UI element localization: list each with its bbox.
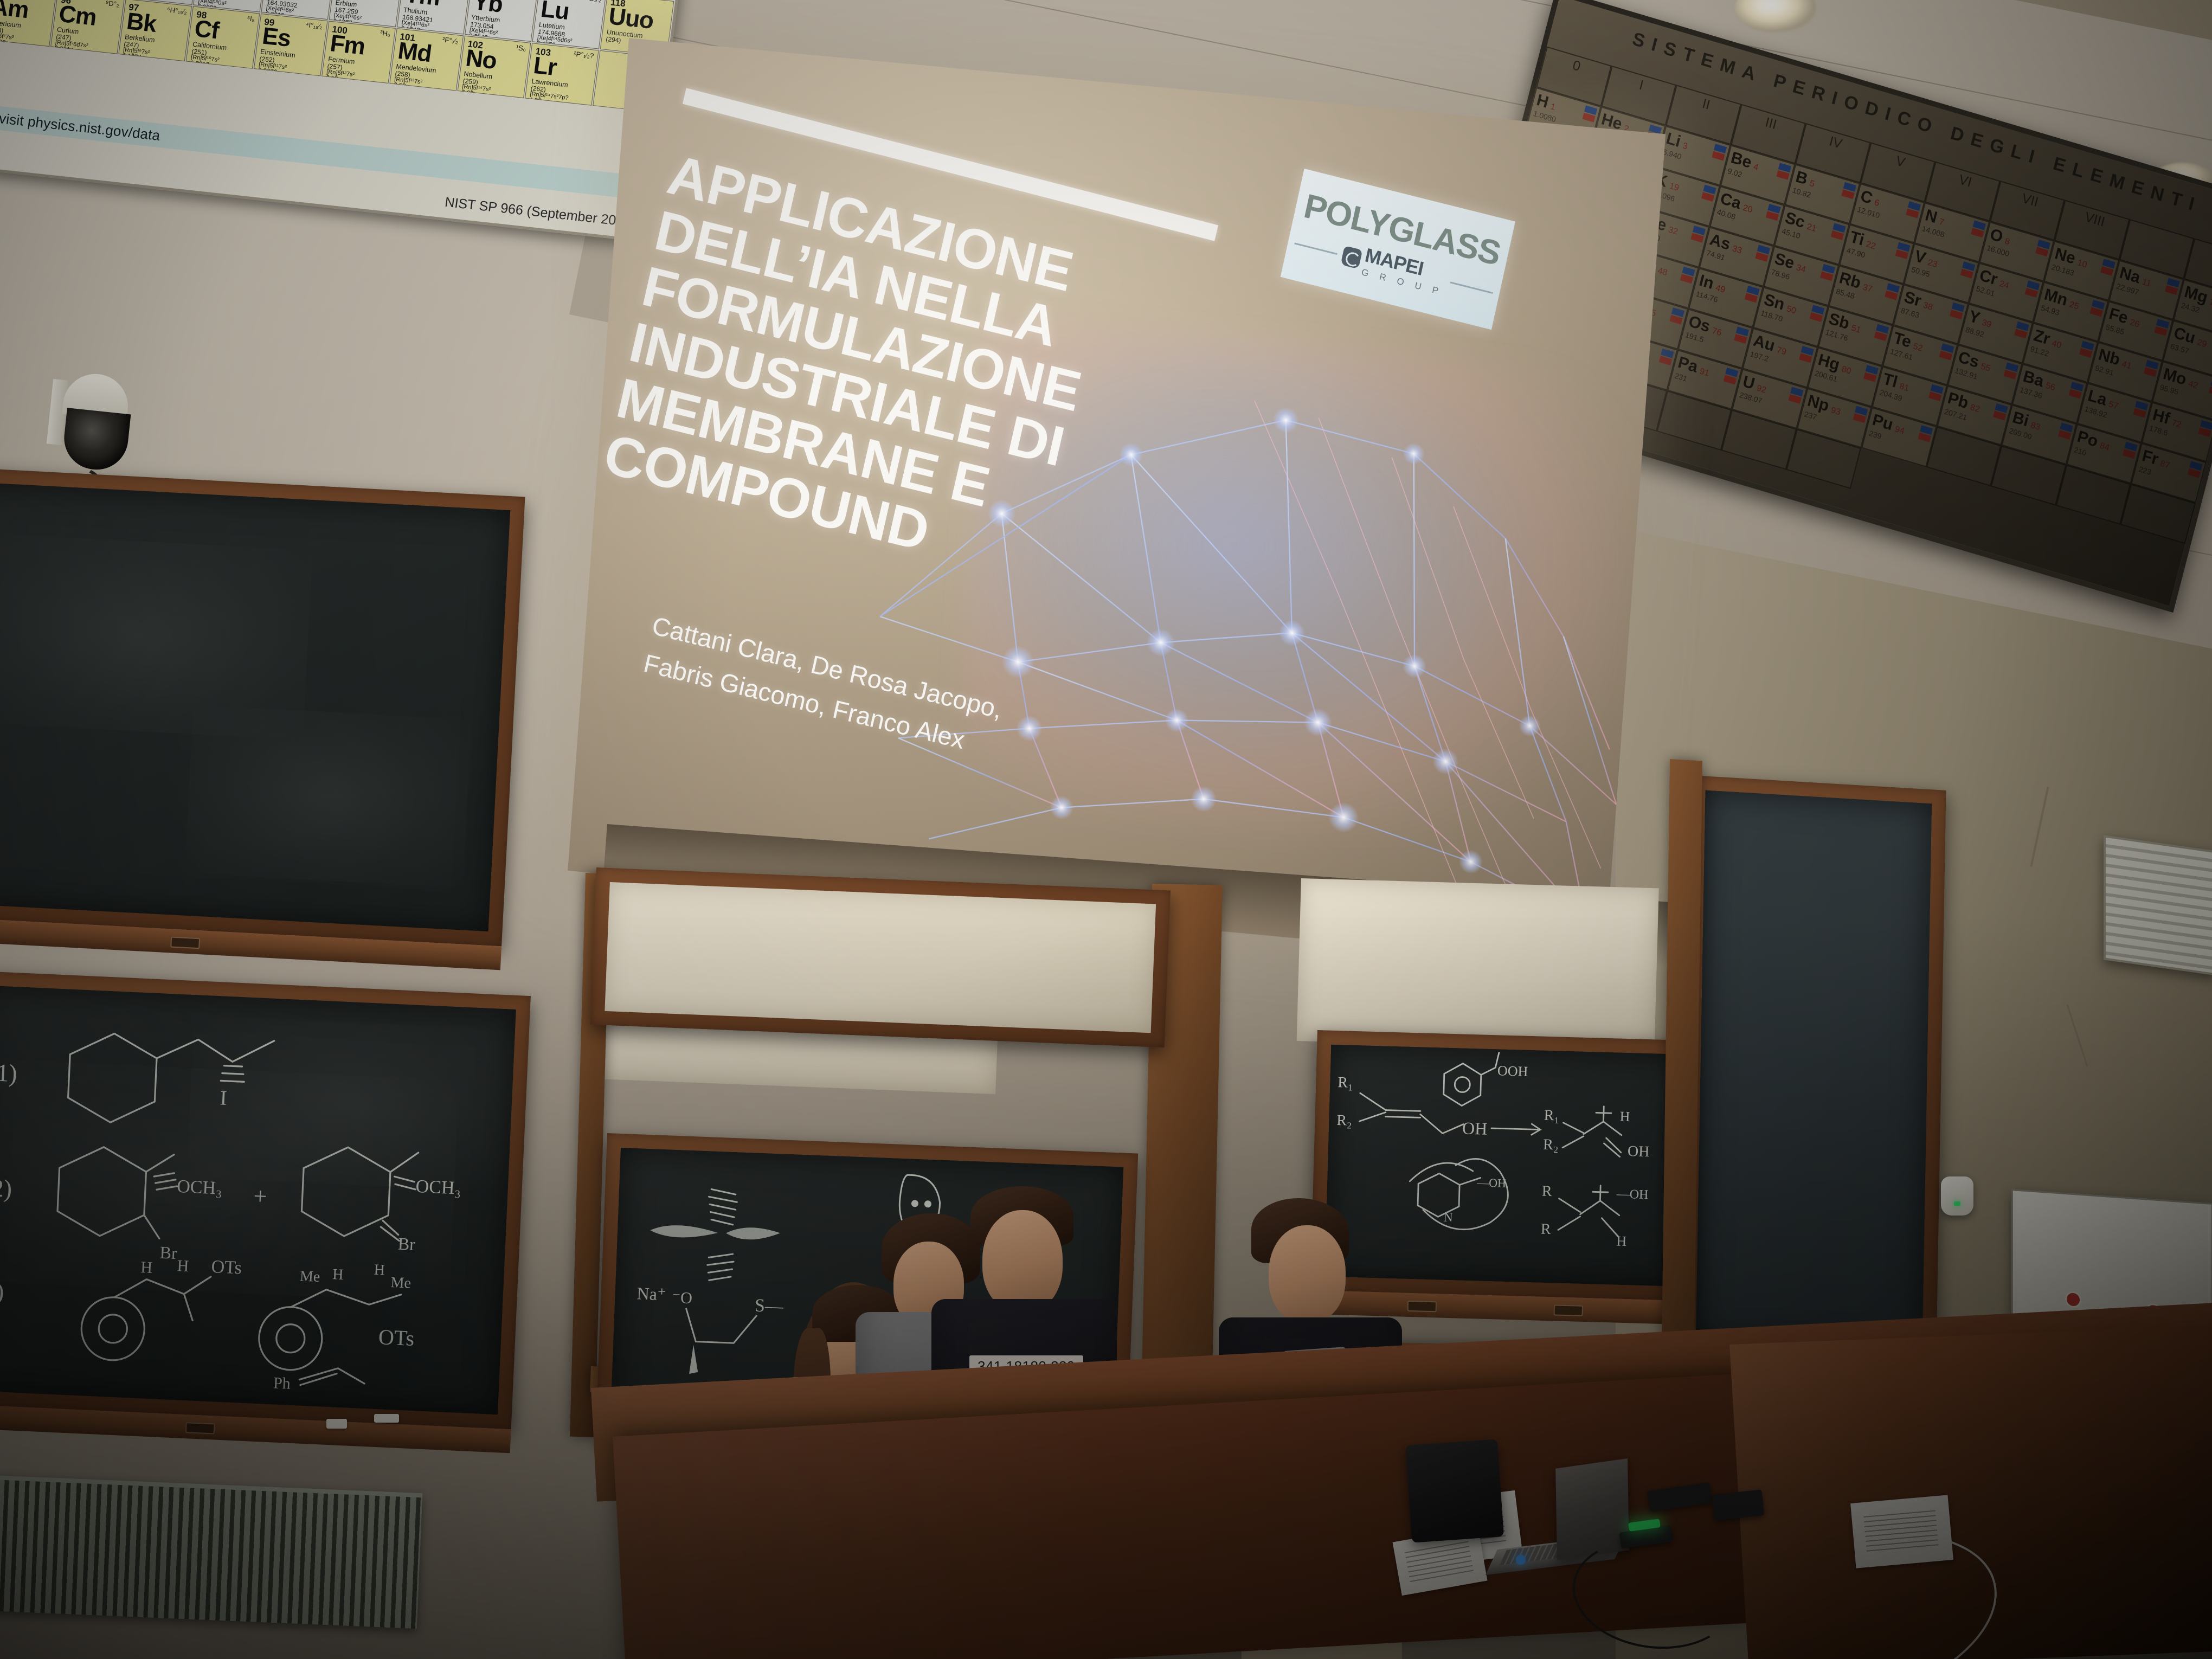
vintage-element-number: 51 [1850, 323, 1862, 335]
vintage-element-symbol: O [1988, 226, 2005, 247]
element-term: ²F°₇⁄₂ [442, 36, 459, 44]
vintage-element-number: 42 [2187, 379, 2198, 391]
vintage-element-number: 7 [1938, 217, 1945, 228]
svg-text:2): 2) [0, 1174, 12, 1203]
mapei-mark-icon [1340, 246, 1362, 269]
vintage-element-number: 10 [2076, 258, 2088, 270]
laptop-bag[interactable] [1405, 1439, 1504, 1542]
sensor-led-indicator [1954, 1201, 1960, 1206]
svg-text:OH: OH [1628, 1143, 1650, 1160]
motion-sensor [1941, 1176, 1973, 1216]
vintage-element-number: 23 [1927, 258, 1938, 270]
chalk-piece[interactable] [374, 1414, 399, 1423]
svg-text:R₁: R₁ [1338, 1074, 1353, 1091]
svg-text:R₁: R₁ [1544, 1107, 1559, 1124]
vintage-element-symbol: V [1913, 247, 1927, 268]
vintage-element-number: 11 [2141, 278, 2152, 289]
vintage-element-number: 83 [2030, 421, 2041, 433]
vintage-element-number: 38 [1922, 300, 1933, 312]
element-term: ⁹D°₂ [105, 0, 120, 8]
svg-text:—OH: —OH [1616, 1187, 1648, 1203]
vintage-element-number: 56 [2044, 381, 2056, 393]
svg-text:H: H [140, 1258, 153, 1277]
svg-text:3): 3) [0, 1277, 5, 1306]
svg-text:OCH₃: OCH₃ [415, 1176, 461, 1199]
vintage-element-number: 5 [1809, 179, 1816, 189]
logo-rule-left [1294, 242, 1337, 255]
vintage-element-number: 40 [2051, 339, 2062, 351]
vintage-element-symbol: Ti [1848, 228, 1866, 249]
vintage-element-mass: 24.32 [2180, 301, 2212, 326]
vintage-element-number: 29 [2196, 338, 2208, 350]
vintage-element-mass: 95.95 [2159, 383, 2212, 408]
epoxidation-scheme-chalk-drawing: R₁ R₂ OH OOH R₁ R₂ [1324, 1045, 1699, 1287]
vintage-element-number: 91 [1699, 366, 1710, 378]
vintage-element-number: 3 [1682, 141, 1689, 151]
blackboard-right[interactable]: R₁ R₂ OH OOH R₁ R₂ [1310, 1030, 1713, 1301]
element-term: ³H₆ [380, 29, 391, 37]
organic-chemistry-chalk-drawing: 1) I 2) OCH₃ Br + [0, 985, 516, 1414]
vintage-element-number: 41 [2121, 359, 2132, 371]
vintage-element-symbol: N [1924, 206, 1939, 227]
chalk-piece[interactable] [326, 1419, 347, 1429]
vintage-element-symbol: Y [1967, 307, 1982, 328]
svg-text:H: H [374, 1262, 385, 1279]
vintage-element-symbol: U [1741, 372, 1757, 393]
svg-text:H: H [177, 1257, 189, 1275]
vintage-element-number: 33 [1731, 244, 1742, 256]
svg-text:OH: OH [1462, 1118, 1488, 1139]
logo-rule-right [1450, 281, 1493, 294]
svg-text:Br: Br [397, 1234, 416, 1254]
cabinet-sticker [2065, 1291, 2081, 1308]
vintage-element-number: 8 [2004, 236, 2011, 247]
vintage-element-number: 24 [1998, 279, 2010, 291]
vintage-element-number: 19 [1668, 182, 1680, 194]
svg-text:Me: Me [299, 1268, 320, 1285]
element-term: ⁵I₈ [247, 15, 255, 23]
blackboard-clip [1553, 1304, 1583, 1316]
svg-text:R₂: R₂ [1336, 1112, 1352, 1129]
periodic-element-cell: 71²D₃⁄₂LuLutetium174.9668[Xe]4f¹⁴5d6s²5.… [532, 0, 606, 49]
vintage-element-number: 84 [2099, 441, 2110, 453]
svg-text:H: H [1616, 1233, 1627, 1250]
periodic-element-cell: 97⁶H°₁₅⁄₂BkBerkelium(247)[Rn]5f⁹7s²6.197… [118, 0, 192, 61]
svg-text:I: I [220, 1086, 228, 1110]
vintage-element-number: 39 [1981, 318, 1992, 330]
projected-slide: APPLICAZIONE DELL’IA NELLA FORMULAZIONE … [568, 38, 1666, 967]
element-term: ²P°₁⁄₂? [574, 50, 595, 60]
vintage-element-number: 52 [1912, 342, 1924, 353]
vintage-element-number: 37 [1862, 282, 1873, 294]
vintage-element-number: 79 [1776, 345, 1787, 357]
svg-text:+: + [253, 1182, 268, 1210]
blackboard-far-right[interactable] [1681, 775, 1946, 1371]
svg-text:OTs: OTs [211, 1257, 242, 1278]
avatar-face [982, 1210, 1063, 1312]
vintage-element-symbol: H [1535, 91, 1551, 112]
vintage-element-number: 34 [1795, 263, 1806, 275]
vintage-element-number: 72 [2171, 419, 2182, 430]
vintage-element-number: 57 [2107, 400, 2119, 411]
vintage-element-number: 6 [1873, 198, 1880, 208]
laptop-power-led [1516, 1555, 1526, 1565]
blackboard-left-upper[interactable] [0, 466, 525, 946]
periodic-element-cell: 96⁹D°₂CmCurium(247)[Rn]5f⁷6d7s²5.9914 [50, 0, 124, 54]
element-term: ⁴I°₁₅⁄₂ [305, 21, 323, 30]
blackboard-left-lower[interactable]: 1) I 2) OCH₃ Br + [0, 970, 531, 1429]
svg-text:H: H [1619, 1109, 1630, 1125]
vintage-element-number: 21 [1806, 222, 1817, 234]
vintage-element-number: 32 [1667, 225, 1679, 237]
element-term: ¹S₀ [516, 44, 526, 52]
periodic-element-cell: 99⁴I°₁₅⁄₂EsEinsteinium(252)[Rn]5f¹¹7s²6.… [254, 14, 327, 76]
svg-text:R: R [1541, 1183, 1552, 1200]
vintage-element-number: 1 [1549, 102, 1557, 112]
svg-text:Ph: Ph [273, 1374, 291, 1392]
avatar-face [1269, 1225, 1346, 1323]
periodic-element-cell: 102¹S₀NoNobelium(259)[Rn]5f¹⁴7s²6.65 [457, 36, 531, 99]
periodic-element-cell: 100³H₆FmFermium(257)[Rn]5f¹²7s²6.50 [321, 21, 395, 83]
svg-text:1): 1) [0, 1059, 18, 1088]
vintage-element-number: 93 [1830, 406, 1841, 417]
power-adapter[interactable] [1712, 1489, 1765, 1520]
vintage-element-number: 25 [2068, 300, 2080, 312]
periodic-element-cell: 98⁵I₈CfCalifornium(251)[Rn]5f¹⁰7s²6.2817 [186, 6, 260, 69]
vintage-element-number: 48 [1657, 266, 1668, 278]
vintage-element-symbol: B [1794, 168, 1810, 188]
pale-panel-right [1297, 878, 1659, 1051]
svg-text:N: N [1443, 1211, 1453, 1225]
radiator-left [0, 1475, 422, 1629]
vintage-element-number: 82 [1969, 403, 1980, 415]
svg-text:S—: S— [754, 1296, 784, 1317]
svg-text:Me: Me [390, 1274, 411, 1292]
vintage-element-number: 92 [1756, 383, 1767, 395]
vintage-element-number: 87 [2159, 459, 2171, 471]
svg-text:OCH₃: OCH₃ [176, 1176, 222, 1199]
svg-text:H: H [332, 1266, 344, 1283]
vintage-element-number: 50 [1785, 304, 1797, 316]
vintage-element-number: 20 [1742, 203, 1753, 215]
lecture-hall-scene: CnCopernicium(285)113UutUnuntrium(284)11… [0, 0, 2212, 1659]
svg-text:OTs: OTs [378, 1324, 415, 1351]
vintage-element-number: 55 [1980, 362, 1991, 374]
element-term: ⁶H°₁₅⁄₂ [166, 6, 187, 15]
svg-text:OOH: OOH [1497, 1063, 1528, 1079]
vintage-element-number: 94 [1894, 425, 1905, 436]
svg-text:R₂: R₂ [1543, 1136, 1559, 1154]
vintage-element-number: 22 [1865, 240, 1876, 252]
svg-text:Na⁺: Na⁺ [636, 1283, 667, 1304]
vintage-element-number: 4 [1752, 162, 1759, 172]
blackboard-clip [1407, 1301, 1437, 1313]
periodic-element-cell: 101²F°₇⁄₂MdMendelevium(258)[Rn]5f¹³7s²6.… [389, 28, 463, 91]
svg-text:R: R [1540, 1221, 1551, 1238]
vintage-element-number: 49 [1715, 283, 1726, 295]
svg-text:Br: Br [159, 1243, 178, 1263]
svg-text:⁻O: ⁻O [672, 1289, 693, 1307]
vintage-element-number: 81 [1898, 382, 1909, 394]
vintage-element-number: 76 [1711, 326, 1722, 338]
vintage-element-number: 26 [2129, 318, 2140, 330]
vintage-element-number: 80 [1841, 364, 1852, 376]
periodic-element-cell: 70¹S₀YbYtterbium173.054[Xe]4f¹⁴6s²6.2542 [465, 0, 538, 42]
periodic-element-cell: 103²P°₁⁄₂?LrLawrencium(262)[Rn]5f¹⁴7s²7p… [525, 43, 599, 106]
blackboard-clip [185, 1422, 215, 1434]
vintage-element-symbol: C [1859, 187, 1874, 208]
blackboard-clip [170, 936, 200, 949]
blackboard-middle-upper[interactable] [590, 867, 1171, 1047]
vintage-element-number: 12 [2209, 297, 2212, 309]
wall-ac-unit [2104, 835, 2212, 976]
svg-text:—OH: —OH [1476, 1175, 1507, 1190]
periodic-element-cell: 95⁸S°₇⁄₂AmAmericium(243)[Rn]5f⁷7s²5.9738 [0, 0, 56, 47]
